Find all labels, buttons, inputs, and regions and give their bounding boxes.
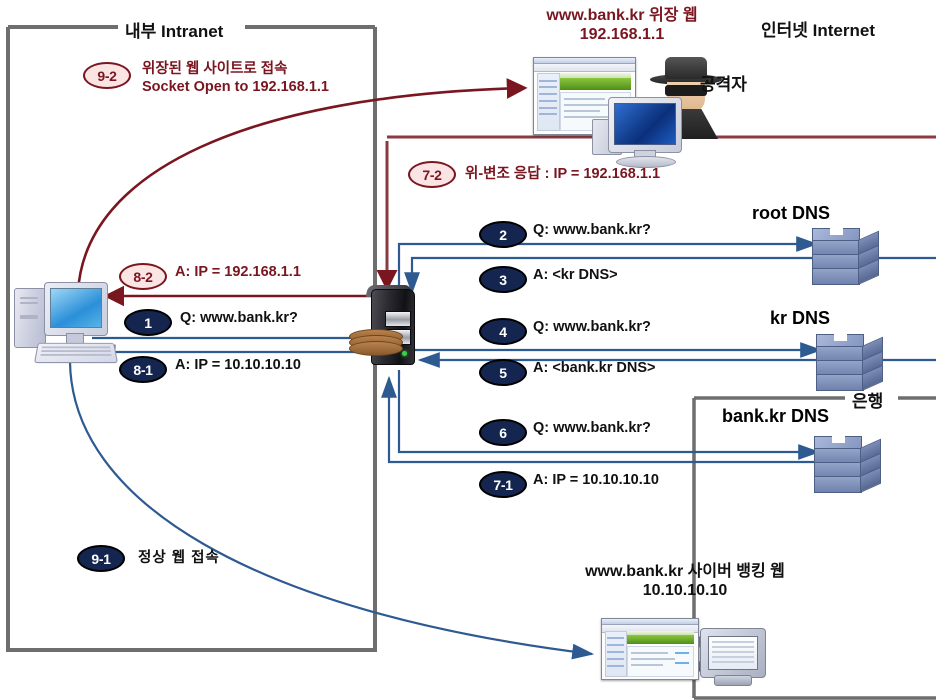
bank-web-caption-line2: 10.10.10.10	[530, 582, 840, 601]
badge-step-1[interactable]: 1	[124, 309, 172, 336]
diagram-canvas: 내부 Intranet 인터넷 Internet 은행 www.bank.kr …	[0, 0, 936, 700]
fake-web-caption-line2: 192.168.1.1	[512, 26, 732, 45]
step-4-text: Q: www.bank.kr?	[533, 319, 651, 335]
pc-monitor-icon	[44, 282, 108, 336]
badge-step-6[interactable]: 6	[479, 419, 527, 446]
badge-step-3[interactable]: 3	[479, 266, 527, 293]
step-9-1-text: 정상 웹 접속	[138, 546, 220, 567]
badge-step-2[interactable]: 2	[479, 221, 527, 248]
step-7-2-text: 위-변조 응답 : IP = 192.168.1.1	[465, 162, 660, 183]
pc-keyboard-icon	[34, 343, 118, 363]
pc-tower-icon	[14, 288, 46, 348]
bank-kr-dns-server[interactable]	[814, 436, 880, 494]
badge-step-7-2[interactable]: 7-2	[408, 161, 456, 188]
badge-step-7-1[interactable]: 7-1	[479, 471, 527, 498]
disk-stack-icon	[349, 329, 401, 355]
badge-step-8-1[interactable]: 8-1	[119, 356, 167, 383]
step-8-1-text: A: IP = 10.10.10.10	[175, 357, 301, 373]
step-5-text: A: <bank.kr DNS>	[533, 360, 656, 376]
step-1-text: Q: www.bank.kr?	[180, 310, 298, 326]
badge-step-5[interactable]: 5	[479, 359, 527, 386]
attacker-monitor-icon	[608, 97, 686, 167]
badge-step-9-1[interactable]: 9-1	[77, 545, 125, 572]
badge-step-9-2[interactable]: 9-2	[83, 62, 131, 89]
bank-web-caption-line1: www.bank.kr 사이버 뱅킹 웹	[530, 563, 840, 582]
step-9-2-text-line2: Socket Open to 192.168.1.1	[142, 79, 329, 95]
frame-title-intranet: 내부 Intranet	[118, 17, 230, 42]
step-9-2-text-line1: 위장된 웹 사이트로 접속	[142, 57, 288, 78]
fake-web-caption-line1: www.bank.kr 위장 웹	[512, 7, 732, 26]
client-pc[interactable]	[14, 282, 118, 366]
bank-web-server[interactable]	[601, 618, 699, 680]
badge-step-8-2[interactable]: 8-2	[119, 263, 167, 290]
line-step-9-2	[78, 88, 525, 292]
step-3-text: A: <kr DNS>	[533, 267, 618, 283]
badge-step-4[interactable]: 4	[479, 318, 527, 345]
line-step-9-1	[70, 362, 592, 654]
root-dns-server[interactable]	[812, 228, 878, 286]
bank-web-monitor-icon	[700, 628, 768, 686]
step-2-text: Q: www.bank.kr?	[533, 222, 651, 238]
step-6-text: Q: www.bank.kr?	[533, 420, 651, 436]
fake-web-caption: www.bank.kr 위장 웹 192.168.1.1	[512, 7, 732, 45]
bank-web-caption: www.bank.kr 사이버 뱅킹 웹 10.10.10.10	[530, 563, 840, 601]
server-led-icon	[402, 351, 407, 356]
step-7-1-text: A: IP = 10.10.10.10	[533, 472, 659, 488]
server-bay-icon	[385, 311, 411, 327]
local-dns-server[interactable]	[363, 285, 425, 369]
frame-title-internet: 인터넷 Internet	[761, 16, 875, 41]
root-dns-label: root DNS	[752, 203, 830, 224]
kr-dns-server[interactable]	[816, 334, 882, 392]
step-8-2-text: A: IP = 192.168.1.1	[175, 264, 301, 280]
kr-dns-label: kr DNS	[770, 308, 830, 329]
bank-kr-dns-label: bank.kr DNS	[722, 406, 829, 427]
attacker-label: 공격자	[700, 70, 747, 95]
